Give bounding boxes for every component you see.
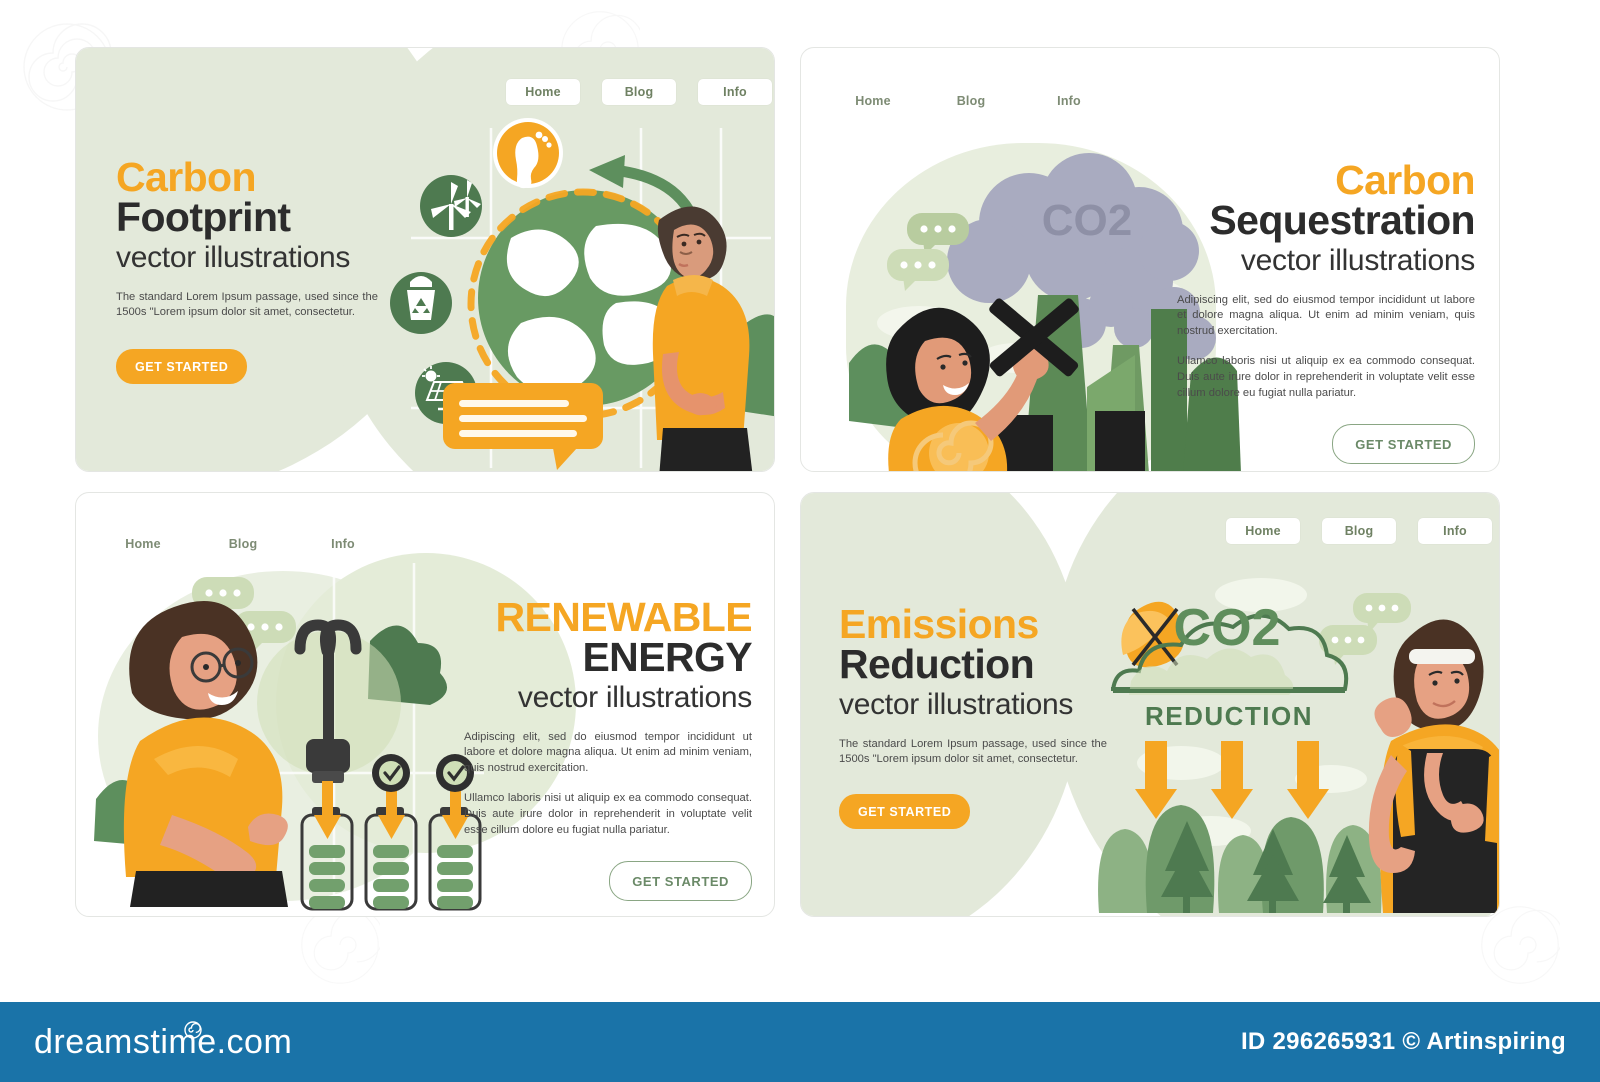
panel-nav: Home Blog Info (506, 79, 772, 105)
panel-copy: RENEWABLE ENERGY vector illustrations Ad… (464, 598, 752, 901)
get-started-button[interactable]: GET STARTED (609, 861, 752, 901)
heading-sub: vector illustrations (116, 240, 378, 275)
illustration-woman-hugging-globe (391, 108, 775, 472)
panel-nav: Home Blog Info (106, 531, 380, 557)
illustration-bulb-batteries (84, 563, 504, 908)
nav-item-blog[interactable]: Blog (934, 88, 1008, 114)
watermark-spiral (1480, 905, 1560, 985)
panel-copy: Carbon Sequestration vector illustration… (1177, 161, 1475, 464)
image-credit: ID 296265931 © Artinspiring (1241, 1028, 1566, 1056)
panel-carbon-footprint: Home Blog Info Carbon Footprint vector i… (75, 47, 775, 472)
heading-accent: Carbon (116, 158, 378, 197)
heading-sub: vector illustrations (464, 680, 752, 715)
nav-item-home[interactable]: Home (836, 88, 910, 114)
chat-bubble (1319, 625, 1377, 665)
nav-item-blog[interactable]: Blog (602, 79, 676, 105)
illustration-co2-reduction: CO2 REDUCTION (1091, 573, 1491, 913)
dreamstime-logo-text: dreamstime.com (34, 1023, 292, 1061)
wind-turbine-icon (420, 175, 482, 237)
nav-item-home[interactable]: Home (506, 79, 580, 105)
orange-speech-bubble (443, 383, 603, 470)
body-paragraph: The standard Lorem Ipsum passage, used s… (116, 290, 378, 322)
nav-item-home[interactable]: Home (106, 531, 180, 557)
panel-nav: Home Blog Info (1226, 518, 1492, 544)
body-paragraph: Adipiscing elit, sed do eiusmod tempor i… (1177, 293, 1475, 341)
chat-bubble (887, 249, 949, 291)
watermark-spiral (300, 905, 380, 985)
get-started-button[interactable]: GET STARTED (116, 349, 247, 384)
battery (366, 754, 416, 909)
nav-item-info[interactable]: Info (1032, 88, 1106, 114)
down-arrow-group (1135, 741, 1329, 819)
heading-accent: Carbon (1177, 161, 1475, 200)
nav-item-info[interactable]: Info (306, 531, 380, 557)
heading-main: Footprint (116, 197, 378, 239)
headband (1409, 649, 1475, 664)
heading-accent: Emissions (839, 605, 1107, 644)
body-paragraph: Ullamco laboris nisi ut aliquip ex ea co… (464, 791, 752, 839)
poster-canvas: Home Blog Info Carbon Footprint vector i… (0, 0, 1600, 1082)
check-circle-icon (372, 754, 410, 792)
skirt (130, 871, 288, 907)
get-started-button[interactable]: GET STARTED (839, 794, 970, 829)
heading-accent: RENEWABLE (464, 598, 752, 637)
nav-item-info[interactable]: Info (698, 79, 772, 105)
down-arrow (1211, 741, 1253, 819)
body-paragraph: Adipiscing elit, sed do eiusmod tempor i… (464, 730, 752, 778)
heading-main: Sequestration (1177, 200, 1475, 242)
dreamstime-logo[interactable]: dreamstime.com (34, 1023, 292, 1062)
recycle-bin-icon (390, 272, 452, 334)
heading-main: Reduction (839, 644, 1107, 686)
person-figure (1369, 619, 1500, 913)
panel-nav: Home Blog Info (836, 88, 1106, 114)
panel-renewable-energy: Home Blog Info RENEWABLE ENERGY vector i… (75, 492, 775, 917)
body-paragraph: The standard Lorem Ipsum passage, used s… (839, 737, 1107, 769)
nav-item-blog[interactable]: Blog (206, 531, 280, 557)
registered-spiral-icon (184, 1021, 202, 1042)
footprint-icon (493, 118, 563, 188)
heading-sub: vector illustrations (1177, 243, 1475, 278)
stock-footer-bar: dreamstime.com ID 296265931 © Artinspiri… (0, 1002, 1600, 1082)
panel-copy: Carbon Footprint vector illustrations Th… (116, 158, 378, 384)
get-started-button[interactable]: GET STARTED (1332, 424, 1475, 464)
battery (302, 781, 352, 909)
panel-copy: Emissions Reduction vector illustrations… (839, 605, 1107, 829)
heading-sub: vector illustrations (839, 687, 1107, 722)
nav-item-info[interactable]: Info (1418, 518, 1492, 544)
body-paragraph: Ullamco laboris nisi ut aliquip ex ea co… (1177, 354, 1475, 402)
co2-label: CO2 (1042, 196, 1132, 245)
co2-label: CO2 (1174, 599, 1281, 657)
panel-emissions-reduction: Home Blog Info Emissions Reduction vecto… (800, 492, 1500, 917)
reduction-label: REDUCTION (1145, 701, 1313, 731)
heading-main: ENERGY (464, 637, 752, 679)
person-figure (653, 206, 753, 472)
panel-carbon-sequestration: Home Blog Info Carbon Sequestration vect… (800, 47, 1500, 472)
person-figure (124, 601, 288, 907)
nav-item-home[interactable]: Home (1226, 518, 1300, 544)
nav-item-blog[interactable]: Blog (1322, 518, 1396, 544)
trousers (659, 428, 753, 472)
